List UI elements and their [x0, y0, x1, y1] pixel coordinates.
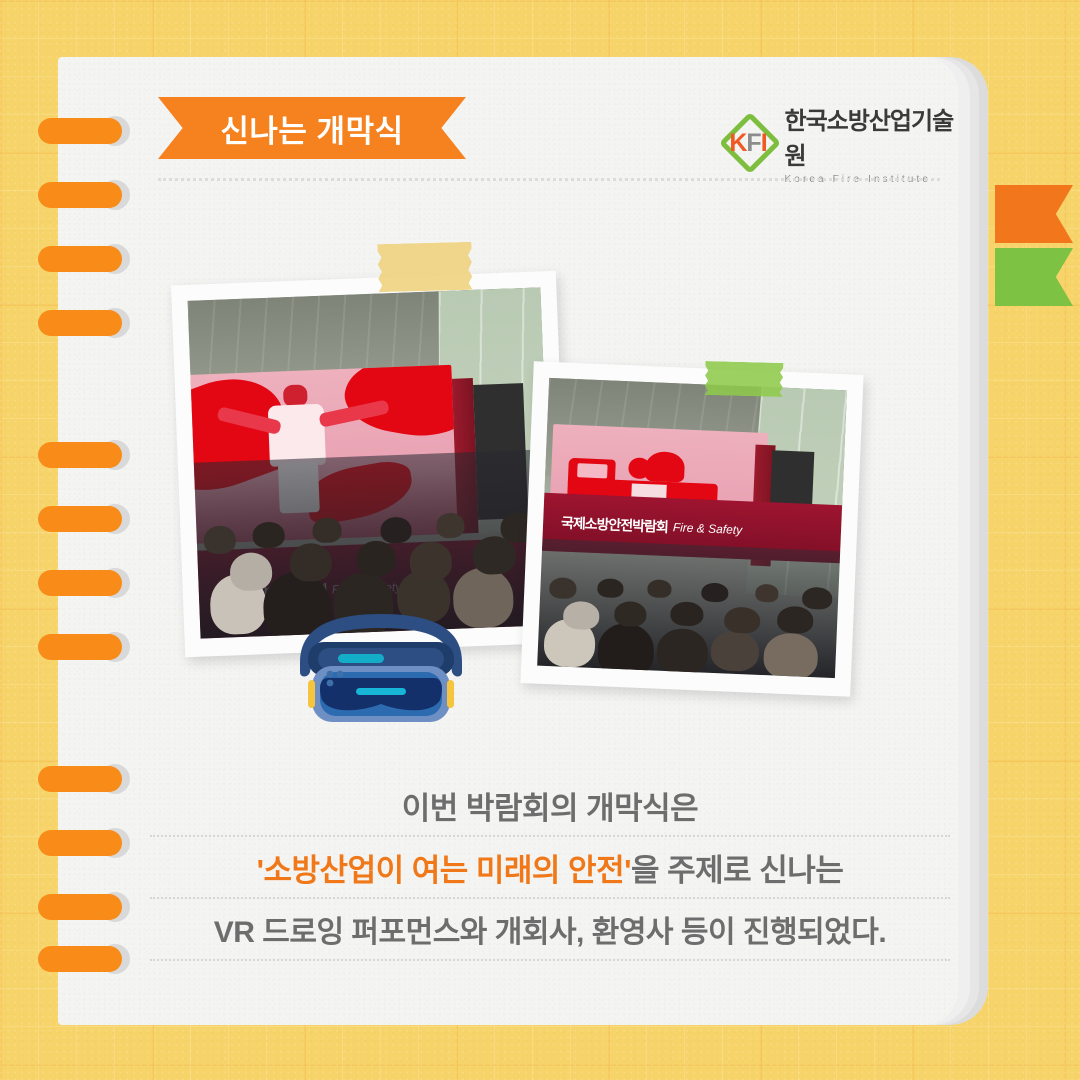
kfi-logo: KFI 한국소방산업기술원 Korea Fire Institute: [716, 101, 958, 185]
binding-ring: [38, 946, 130, 972]
photo-image-firetruck: 국제소방안전박람회 Fire & Safety: [537, 378, 847, 678]
notebook-page-stack: 신나는 개막식 KFI 한국소방산업기술원 Korea Fire Institu…: [58, 57, 988, 1025]
page-title: 신나는 개막식: [220, 106, 403, 151]
binding-ring: [38, 310, 130, 336]
caption-highlight: '소방산업이 여는 미래의 안전': [257, 845, 631, 890]
kfi-name-korean: 한국소방산업기술원: [785, 101, 958, 171]
binding-ring: [38, 506, 130, 532]
spiral-binding: [0, 0, 140, 1080]
binding-ring: [38, 246, 130, 272]
caption-line-2: '소방산업이 여는 미래의 안전'을 주제로 신나는: [150, 837, 950, 899]
binding-ring: [38, 182, 130, 208]
washi-tape-green: [705, 361, 784, 397]
kfi-letter-f: F: [746, 129, 760, 157]
caption-block: 이번 박람회의 개막식은 '소방산업이 여는 미래의 안전'을 주제로 신나는 …: [150, 775, 950, 961]
event-banner-text-ko-2: 국제소방안전박람회: [561, 513, 669, 537]
notebook-page: 신나는 개막식 KFI 한국소방산업기술원 Korea Fire Institu…: [58, 57, 958, 1025]
binding-ring: [38, 570, 130, 596]
caption-line-2-rest: 을 주제로 신나는: [631, 845, 843, 890]
kfi-letter-i: I: [761, 129, 767, 157]
binding-ring: [38, 118, 130, 144]
binding-ring: [38, 766, 130, 792]
caption-line-3: VR 드로잉 퍼포먼스와 개회사, 환영사 등이 진행되었다.: [150, 899, 950, 961]
event-banner-text-en-2: Fire & Safety: [673, 520, 743, 537]
page-title-banner: 신나는 개막식: [158, 97, 466, 159]
kfi-letter-k: K: [729, 129, 746, 157]
header-divider: [158, 178, 940, 181]
audience-crowd-firetruck: [537, 539, 840, 678]
photo-card-firetruck[interactable]: 국제소방안전박람회 Fire & Safety: [520, 361, 863, 697]
binding-ring: [38, 830, 130, 856]
photo-card-performer[interactable]: 국제소방안전박람회 Fire & Safety: [171, 271, 570, 658]
binding-ring: [38, 894, 130, 920]
washi-tape-yellow: [377, 242, 472, 292]
binding-ring: [38, 634, 130, 660]
kfi-diamond-icon: KFI: [716, 117, 775, 169]
vr-headset-icon: [282, 608, 480, 730]
photo-image-performer: 국제소방안전박람회 Fire & Safety: [188, 287, 554, 638]
caption-line-1: 이번 박람회의 개막식은: [150, 775, 950, 837]
binding-ring: [38, 442, 130, 468]
